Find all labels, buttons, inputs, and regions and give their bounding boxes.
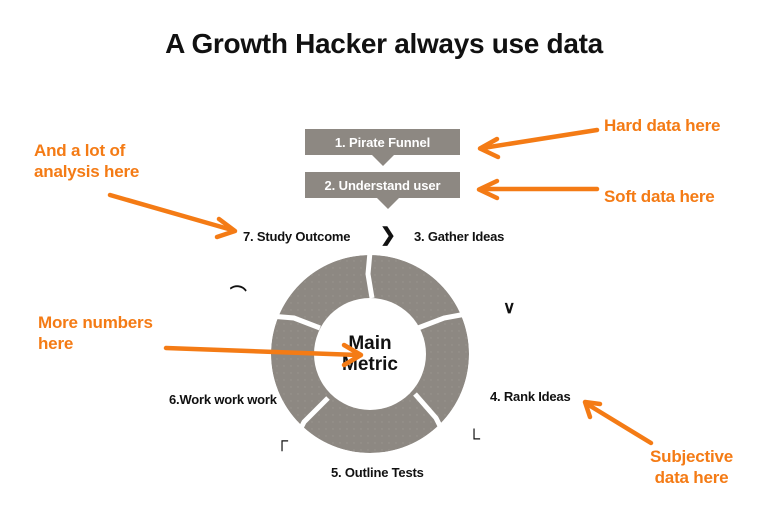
funnel-banner-pirate-funnel[interactable]: 1. Pirate Funnel — [305, 129, 460, 155]
annotation-subjective-data: Subjective data here — [650, 446, 733, 489]
cycle-step-7-study-outcome[interactable]: 7. Study Outcome — [243, 229, 350, 244]
chevron-right-icon: ❯ — [380, 226, 396, 245]
arrow-hard-data-head — [480, 139, 498, 157]
cycle-step-3-gather-ideas[interactable]: 3. Gather Ideas — [414, 229, 504, 244]
banner-tail-icon — [372, 155, 394, 166]
caret-down-right-icon: ∨ — [503, 299, 515, 316]
cycle-step-5-outline-tests[interactable]: 5. Outline Tests — [331, 465, 424, 480]
corner-bottom-left-icon: └ — [468, 430, 480, 447]
arrow-soft-data-head — [479, 181, 497, 198]
cycle-donut-chart — [268, 252, 472, 456]
page-title: A Growth Hacker always use data — [0, 28, 768, 60]
annotation-hard-data: Hard data here — [604, 115, 720, 136]
slide-canvas: A Growth Hacker always use data 1. Pirat… — [0, 0, 768, 512]
arrow-subjective-head — [585, 402, 600, 417]
funnel-banner-label: 1. Pirate Funnel — [335, 135, 430, 150]
annotation-analysis: And a lot of analysis here — [34, 140, 139, 183]
banner-tail-icon — [377, 198, 399, 209]
arrow-subjective-line — [587, 404, 651, 443]
cycle-step-4-rank-ideas[interactable]: 4. Rank Ideas — [490, 389, 571, 404]
arrow-analysis-head — [217, 219, 235, 237]
annotation-soft-data: Soft data here — [604, 186, 715, 207]
funnel-banner-understand-user[interactable]: 2. Understand user — [305, 172, 460, 198]
annotation-more-numbers: More numbers here — [38, 312, 153, 355]
caret-upper-left-icon: ⌒ — [228, 285, 247, 304]
funnel-banner-label: 2. Understand user — [325, 178, 441, 193]
arrow-hard-data-line — [483, 130, 597, 148]
corner-top-left-icon: ┌ — [276, 432, 288, 449]
arrow-analysis-line — [110, 195, 232, 230]
cycle-step-6-work-work-work[interactable]: 6.Work work work — [169, 392, 277, 407]
